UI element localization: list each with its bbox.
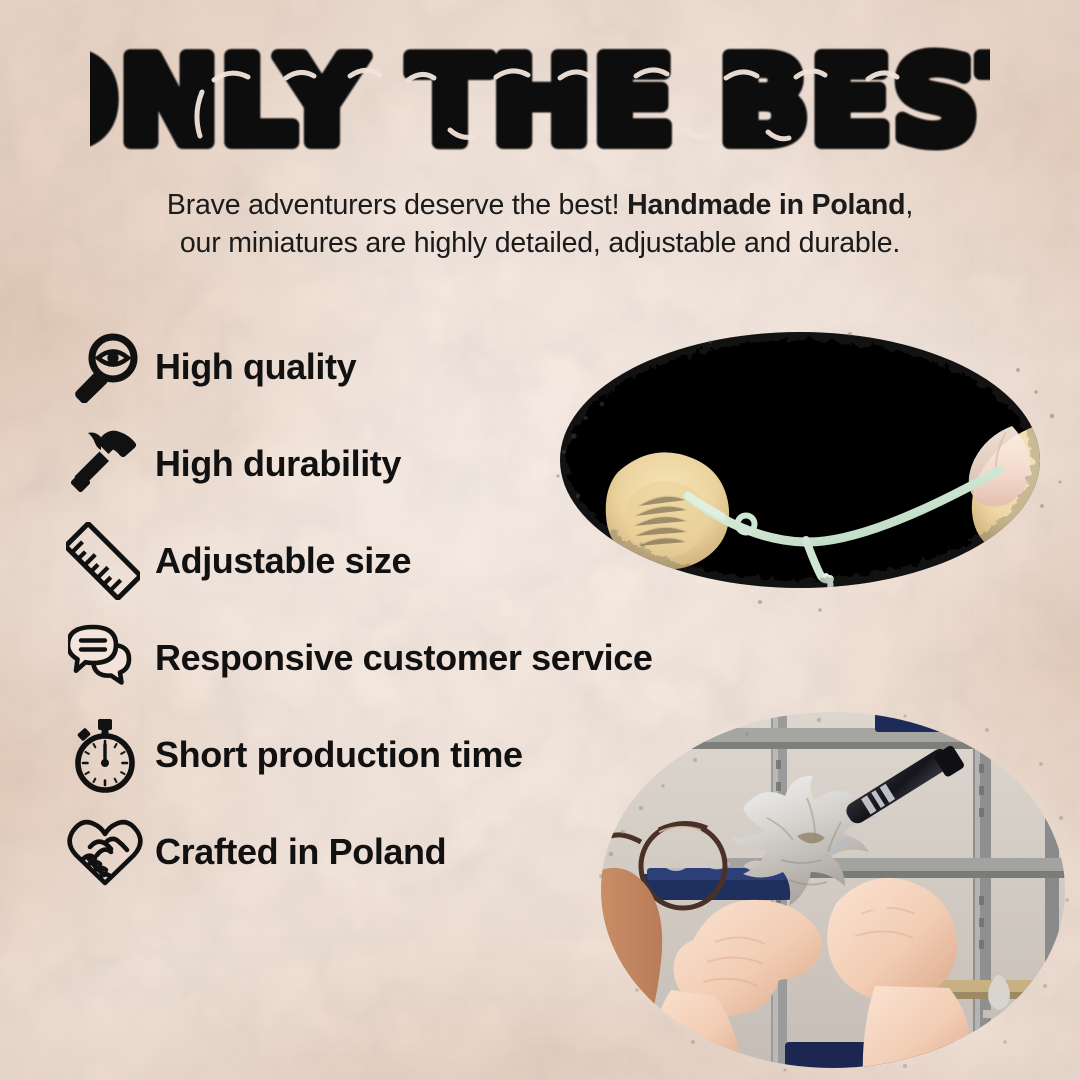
photo-top-content <box>520 300 1080 640</box>
heart-handshake-icon <box>66 817 144 887</box>
forearm <box>575 868 662 1080</box>
stopwatch-icon <box>70 717 140 793</box>
subtitle-line1-strong: Handmade in Poland <box>627 189 905 221</box>
hammer-icon <box>68 427 144 501</box>
photo-bottom-content <box>575 690 1080 1080</box>
subtitle-line2: our miniatures are highly detailed, adju… <box>180 227 900 259</box>
subtitle-line1-tail: , <box>905 189 913 221</box>
magnifier-eye-icon <box>70 331 142 403</box>
chat-bubbles-icon <box>68 623 144 693</box>
flexing-miniature-photo: Two fingertips bending a pale mint-green… <box>520 300 1080 640</box>
subtitle-line1-lead: Brave adventurers deserve the best! <box>167 189 619 221</box>
subtitle: Brave adventurers deserve the best! Hand… <box>60 186 1020 262</box>
workshop-painting-photo: Hands holding a detailed grey dragon min… <box>575 690 1080 1080</box>
feature-label: Responsive customer service <box>155 637 652 679</box>
feature-label: Adjustable size <box>155 540 411 582</box>
ruler-icon <box>66 522 140 600</box>
headline-text: ONLY THE BEST <box>90 34 990 170</box>
feature-label: High durability <box>155 443 401 485</box>
headline: ONLY THE BEST <box>0 34 1080 174</box>
infographic-canvas: ONLY THE BEST Brave adventurers de <box>0 0 1080 1080</box>
headline-lettering: ONLY THE BEST <box>90 34 990 174</box>
feature-label: High quality <box>155 346 356 388</box>
feature-label: Crafted in Poland <box>155 831 446 873</box>
feature-label: Short production time <box>155 734 523 776</box>
